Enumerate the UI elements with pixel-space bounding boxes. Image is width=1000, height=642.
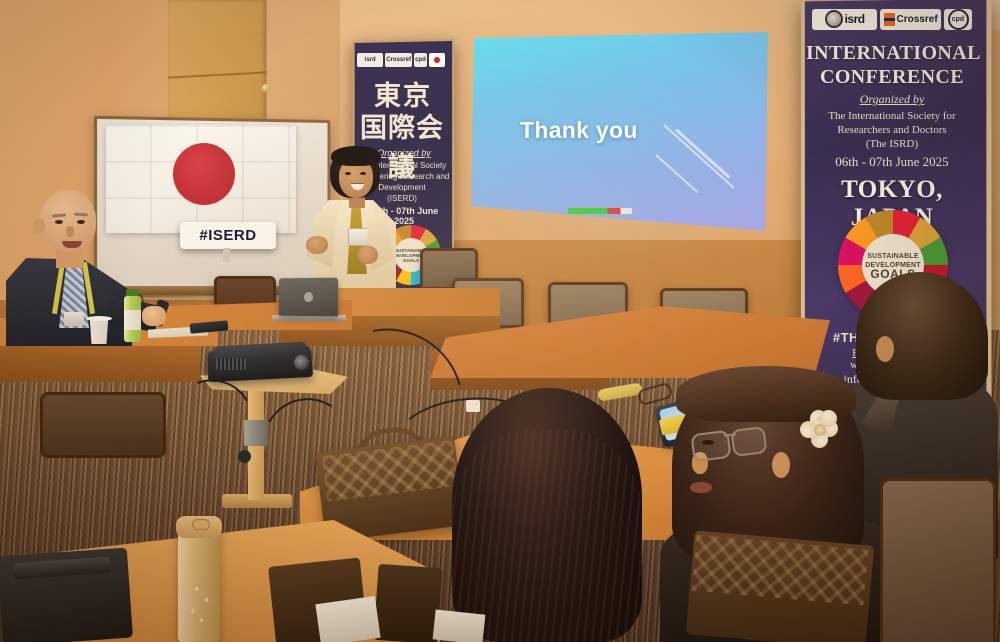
slide-taskbar-strip	[568, 208, 632, 214]
hair-strands-texture	[452, 430, 642, 642]
seated-man-hand	[142, 306, 166, 326]
apple-logo-icon	[304, 292, 313, 302]
crossref-logo: Crossref	[880, 9, 941, 30]
conference-table-apron	[0, 342, 200, 382]
eyeglasses-lens	[730, 426, 767, 457]
isrd-logo: isrd	[812, 9, 877, 30]
presenter-name-badge	[348, 228, 370, 246]
isrd-mark-icon	[825, 10, 843, 28]
crossref-logo: Crossref	[385, 53, 411, 67]
floor-outlet[interactable]	[466, 400, 480, 412]
conference-org-line-2: Researchers and Doctors	[802, 124, 982, 136]
seated-man-eye	[55, 220, 63, 224]
projection-screen: Thank you	[468, 32, 768, 250]
projector-stand-knob[interactable]	[238, 450, 251, 463]
cup-rim	[86, 316, 112, 321]
chair[interactable]	[40, 392, 166, 458]
conference-org-line-1: The International Society for	[802, 110, 982, 122]
japan-flag-icon	[429, 53, 445, 67]
dark-bag[interactable]	[373, 564, 442, 642]
iserd-sign-handle	[223, 248, 230, 262]
flower-center	[814, 424, 826, 436]
crossref-mark-icon	[884, 13, 895, 26]
crossref-logo-text: Crossref	[897, 14, 938, 25]
paper-sheet[interactable]	[433, 609, 486, 642]
thermos-tab[interactable]	[192, 519, 210, 530]
cpd-logo: cpd	[414, 53, 427, 67]
door-knob-icon[interactable]	[262, 84, 270, 92]
projector-vent	[216, 358, 246, 370]
conference-dates: 06th - 07th June 2025	[802, 154, 982, 170]
conference-organized-by: Organized by	[806, 92, 978, 107]
presenter-fringe	[331, 146, 381, 166]
bottle-label	[124, 310, 141, 330]
foreground-woman-mouth	[690, 482, 712, 493]
iserd-sign: #ISERD	[180, 222, 276, 249]
conference-banner-logos: isrd Crossref cpd	[812, 8, 972, 30]
seated-man-eye	[77, 220, 85, 224]
presenter-eye	[345, 172, 351, 175]
conference-org-line-3: (The ISRD)	[802, 138, 982, 150]
cpd-logo-text: cpd	[948, 9, 969, 30]
presenter-eye	[360, 172, 366, 175]
presenter-hand-right	[358, 246, 378, 264]
projector-lens-icon	[294, 355, 309, 370]
wooden-door[interactable]	[168, 0, 266, 122]
conference-room-photo: Thank you #ISERD isrd Crossref cpd 東京 国際…	[0, 0, 1000, 642]
foreground-man-ear	[876, 336, 894, 362]
seated-man-badge	[64, 312, 84, 326]
iserd-sign-text: #ISERD	[199, 227, 256, 244]
seated-man-nose	[66, 226, 74, 237]
presenter-hand-left	[306, 236, 328, 254]
cpd-logo: cpd	[944, 9, 972, 30]
chair[interactable]	[880, 478, 996, 642]
seated-man-ear	[34, 218, 45, 234]
conference-title-line1: INTERNATIONAL	[806, 42, 978, 65]
isrd-logo: isrd	[357, 53, 383, 67]
paper-coffee-cup[interactable]	[88, 318, 110, 344]
paper-sheet[interactable]	[315, 596, 380, 642]
thermos-decoration	[184, 572, 216, 628]
foreground-man-hair	[856, 272, 988, 400]
conference-title-line2: CONFERENCE	[806, 66, 978, 89]
japan-flag-sun-icon	[173, 143, 235, 205]
tokyo-banner-logos: isrd Crossref cpd	[357, 52, 445, 68]
isrd-logo-text: isrd	[845, 12, 865, 26]
foreground-woman-eye	[702, 440, 714, 445]
foreground-woman-ear	[772, 452, 790, 478]
